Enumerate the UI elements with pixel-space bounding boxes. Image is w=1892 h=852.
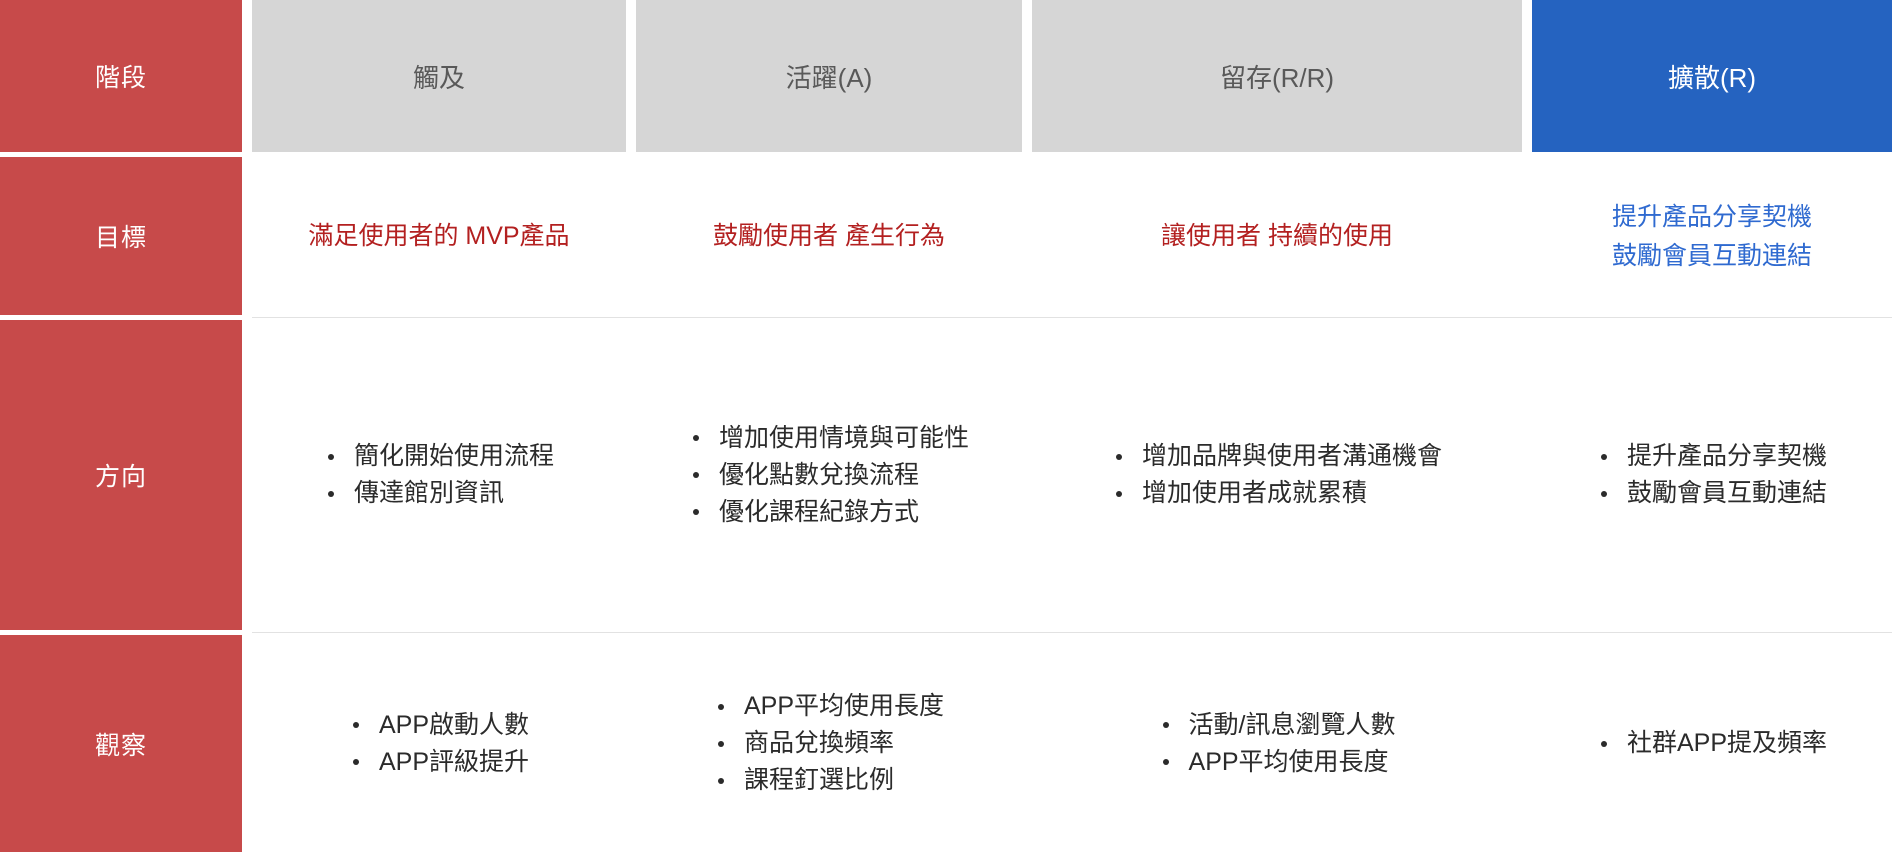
column-header-retention-text: 留存(R/R) [1220, 58, 1334, 95]
column-header-referral[interactable]: 擴散(R) [1532, 0, 1892, 152]
row-divider [636, 630, 1022, 635]
direction-cell-activation: 增加使用情境與可能性 優化點數兌換流程 優化課程紀錄方式 [636, 320, 1022, 630]
list-item: 傳達館別資訊 [324, 481, 554, 506]
observation-cell-referral: 社群APP提及頻率 [1532, 635, 1892, 852]
row-divider [252, 630, 626, 635]
column-gap [1522, 0, 1532, 152]
column-header-retention[interactable]: 留存(R/R) [1032, 0, 1522, 152]
list-item: 商品兌換頻率 [714, 731, 944, 756]
row-divider [626, 630, 636, 635]
bullet-list: 增加品牌與使用者溝通機會 增加使用者成就累積 [1112, 444, 1442, 506]
column-gap [242, 0, 252, 152]
row-label-goal: 目標 [0, 157, 242, 315]
column-header-reach[interactable]: 觸及 [252, 0, 626, 152]
list-item-text: 增加品牌與使用者溝通機會 [1142, 442, 1442, 470]
list-item: 增加使用者成就累積 [1112, 481, 1442, 506]
goal-text: 滿足使用者的 MVP產品 [308, 217, 569, 256]
row-label-direction: 方向 [0, 320, 242, 630]
goal-text: 鼓勵會員互動連結 [1612, 237, 1812, 276]
goal-text: 提升產品分享契機 [1612, 198, 1812, 237]
goal-text: 讓使用者 持續的使用 [1161, 217, 1393, 256]
row-label-stage: 階段 [0, 0, 242, 152]
column-header-referral-text: 擴散(R) [1668, 58, 1756, 95]
list-item-text: 優化課程紀錄方式 [719, 498, 919, 526]
column-gap [242, 157, 252, 315]
direction-cell-retention: 增加品牌與使用者溝通機會 增加使用者成就累積 [1032, 320, 1522, 630]
bullet-list: 社群APP提及頻率 [1597, 731, 1827, 756]
row-divider [1532, 630, 1892, 635]
column-gap [626, 635, 636, 852]
list-item: APP平均使用長度 [1159, 750, 1396, 775]
list-item-text: APP平均使用長度 [1189, 748, 1389, 776]
list-item: 提升產品分享契機 [1597, 444, 1827, 469]
bullet-list: 提升產品分享契機 鼓勵會員互動連結 [1597, 444, 1827, 506]
row-divider [636, 315, 1022, 320]
list-item: 優化點數兌換流程 [689, 463, 969, 488]
stage-strategy-matrix: 階段 觸及 活躍(A) 留存(R/R) 擴散(R) 目標 滿足使用者的 MVP產… [0, 0, 1892, 852]
bullet-list: APP平均使用長度 商品兌換頻率 課程釘選比例 [714, 694, 944, 793]
column-gap [1022, 157, 1032, 315]
list-item-text: 簡化開始使用流程 [354, 442, 554, 470]
column-gap [1522, 157, 1532, 315]
list-item: 社群APP提及頻率 [1597, 731, 1827, 756]
bullet-list: APP啟動人數 APP評級提升 [349, 713, 529, 775]
column-gap [626, 157, 636, 315]
bullet-list: 增加使用情境與可能性 優化點數兌換流程 優化課程紀錄方式 [689, 426, 969, 525]
row-label-observation: 觀察 [0, 635, 242, 852]
column-header-reach-text: 觸及 [413, 58, 465, 95]
column-gap [1022, 0, 1032, 152]
list-item: 增加使用情境與可能性 [689, 426, 969, 451]
column-gap [1022, 635, 1032, 852]
column-gap [242, 635, 252, 852]
row-divider [1522, 315, 1532, 320]
row-divider [252, 315, 626, 320]
list-item: APP評級提升 [349, 750, 529, 775]
list-item-text: 優化點數兌換流程 [719, 461, 919, 489]
column-header-activation-text: 活躍(A) [786, 58, 873, 95]
list-item-text: 傳達館別資訊 [354, 479, 504, 507]
list-item: 優化課程紀錄方式 [689, 500, 969, 525]
list-item: APP平均使用長度 [714, 694, 944, 719]
row-label-goal-text: 目標 [95, 218, 147, 254]
row-divider [1022, 315, 1032, 320]
list-item: 增加品牌與使用者溝通機會 [1112, 444, 1442, 469]
bullet-list: 簡化開始使用流程 傳達館別資訊 [324, 444, 554, 506]
list-item-text: 社群APP提及頻率 [1627, 729, 1827, 757]
direction-cell-referral: 提升產品分享契機 鼓勵會員互動連結 [1532, 320, 1892, 630]
list-item: 課程釘選比例 [714, 768, 944, 793]
list-item-text: 活動/訊息瀏覽人數 [1189, 711, 1396, 739]
goal-text: 鼓勵使用者 產生行為 [713, 217, 945, 256]
column-gap [1522, 320, 1532, 630]
list-item: 鼓勵會員互動連結 [1597, 481, 1827, 506]
row-divider [1532, 315, 1892, 320]
list-item-text: 鼓勵會員互動連結 [1627, 479, 1827, 507]
row-divider [1032, 315, 1522, 320]
list-item-text: 提升產品分享契機 [1627, 442, 1827, 470]
row-divider [1522, 630, 1532, 635]
column-gap [1022, 320, 1032, 630]
list-item-text: APP啟動人數 [379, 711, 529, 739]
row-label-stage-text: 階段 [95, 58, 147, 94]
row-divider [1022, 630, 1032, 635]
list-item-text: APP平均使用長度 [744, 692, 944, 720]
goal-cell-reach: 滿足使用者的 MVP產品 [252, 157, 626, 315]
row-label-direction-text: 方向 [95, 457, 147, 493]
observation-cell-reach: APP啟動人數 APP評級提升 [252, 635, 626, 852]
bullet-list: 活動/訊息瀏覽人數 APP平均使用長度 [1159, 713, 1396, 775]
column-gap [242, 320, 252, 630]
list-item: 活動/訊息瀏覽人數 [1159, 713, 1396, 738]
direction-cell-reach: 簡化開始使用流程 傳達館別資訊 [252, 320, 626, 630]
list-item: 簡化開始使用流程 [324, 444, 554, 469]
goal-cell-referral: 提升產品分享契機 鼓勵會員互動連結 [1532, 157, 1892, 315]
goal-cell-retention: 讓使用者 持續的使用 [1032, 157, 1522, 315]
column-gap [626, 320, 636, 630]
list-item-text: 增加使用者成就累積 [1142, 479, 1367, 507]
list-item: APP啟動人數 [349, 713, 529, 738]
list-item-text: 商品兌換頻率 [744, 729, 894, 757]
observation-cell-activation: APP平均使用長度 商品兌換頻率 課程釘選比例 [636, 635, 1022, 852]
column-gap [1522, 635, 1532, 852]
goal-cell-activation: 鼓勵使用者 產生行為 [636, 157, 1022, 315]
column-gap [626, 0, 636, 152]
list-item-text: 課程釘選比例 [744, 766, 894, 794]
observation-cell-retention: 活動/訊息瀏覽人數 APP平均使用長度 [1032, 635, 1522, 852]
row-label-observation-text: 觀察 [95, 726, 147, 762]
list-item-text: 增加使用情境與可能性 [719, 424, 969, 452]
list-item-text: APP評級提升 [379, 748, 529, 776]
row-divider [626, 315, 636, 320]
column-header-activation[interactable]: 活躍(A) [636, 0, 1022, 152]
row-divider [1032, 630, 1522, 635]
